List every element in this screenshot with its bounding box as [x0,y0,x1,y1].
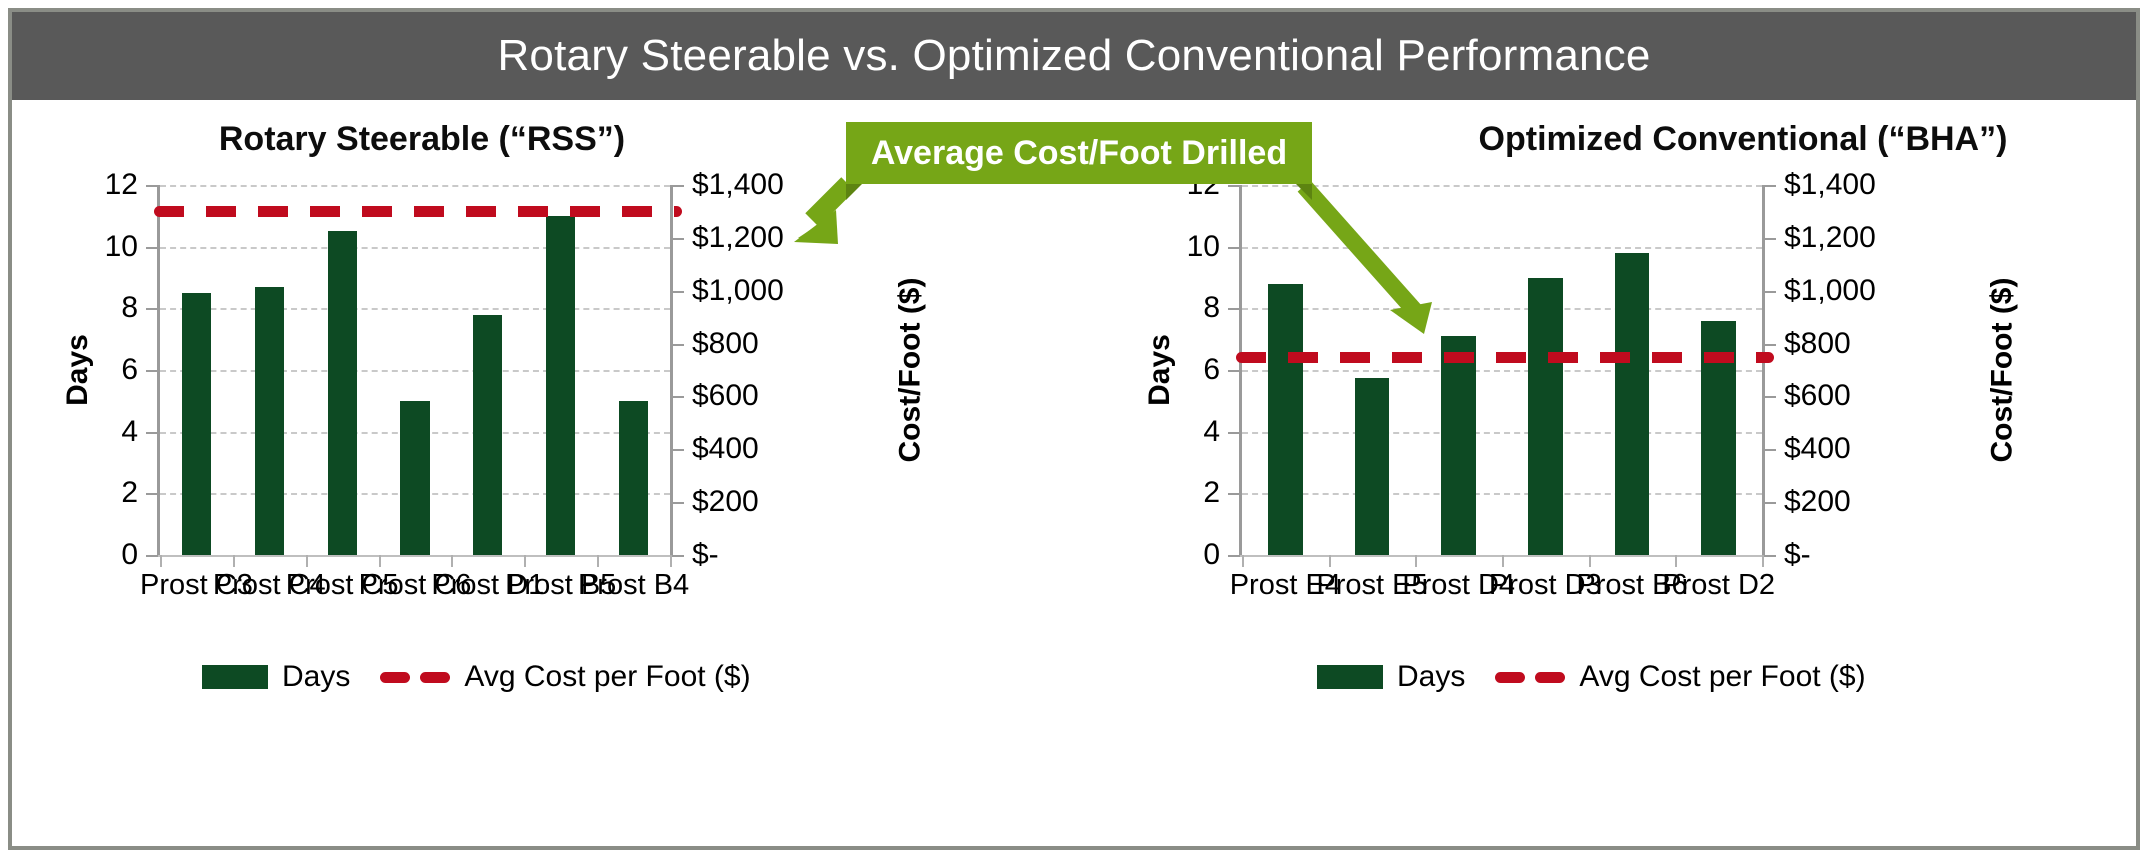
chart-panel-rss: Rotary Steerable (“RSS”) 121086420$1,400… [12,100,1072,854]
bar[interactable] [546,216,575,555]
y-tick-left [146,493,158,495]
x-axis-category-label: Prost D2 [1662,569,1775,602]
chart-title-rss: Rotary Steerable (“RSS”) [0,120,952,159]
bar[interactable] [328,231,357,555]
y-axis-left-tick-label: 8 [1203,291,1220,325]
bar[interactable] [1268,284,1303,555]
legend-label-days: Days [282,660,350,694]
bar[interactable] [473,315,502,556]
bar[interactable] [619,401,648,555]
y-tick-left [1228,308,1240,310]
legend-item-days: Days [1317,660,1465,694]
y-axis-right-tick-label: $1,000 [692,274,784,308]
dashed-line-swatch-icon [380,672,450,683]
y-axis-right-tick-label: $400 [1784,432,1851,466]
y-axis-right-tick-label: $- [1784,538,1811,572]
y-axis-left-tick-label: 4 [1203,415,1220,449]
y-axis-left-tick-label: 10 [1187,230,1220,264]
y-tick-right [672,291,684,293]
gridline [1242,432,1762,434]
y-axis-right-tick-label: $800 [692,327,759,361]
y-tick-right [672,396,684,398]
x-tick [160,555,162,567]
x-tick [306,555,308,567]
x-tick [597,555,599,567]
y-tick-right [672,344,684,346]
avg-cost-per-foot-line [1236,352,1774,363]
y-tick-left [146,185,158,187]
y-axis-right-tick-label: $600 [1784,379,1851,413]
gridline [1242,185,1762,187]
gridline [1242,370,1762,372]
x-tick [233,555,235,567]
legend-item-avg-cost: Avg Cost per Foot ($) [380,660,750,694]
gridline [160,185,670,187]
x-tick [1329,555,1331,567]
y-tick-left [1228,247,1240,249]
x-axis-category-label: Prost B4 [578,569,689,602]
y-tick-right [1764,344,1776,346]
y-axis-right-tick-label: $- [692,538,719,572]
x-tick [379,555,381,567]
gridline [160,370,670,372]
header-bar: Rotary Steerable vs. Optimized Conventio… [12,12,2136,100]
x-tick [1675,555,1677,567]
legend-label-avg-cost: Avg Cost per Foot ($) [464,660,750,694]
y-axis-right-title: Cost/Foot ($) [1985,278,2019,463]
callout-fold-right-icon [1296,184,1312,200]
y-tick-left [1228,185,1240,187]
y-axis-left-title: Days [61,334,95,406]
y-tick-left [1228,370,1240,372]
y-axis-right-tick-label: $1,200 [692,221,784,255]
y-axis-right-tick-label: $1,400 [1784,168,1876,202]
y-tick-left [146,247,158,249]
bar[interactable] [182,293,211,555]
y-axis-right-tick-label: $200 [1784,485,1851,519]
x-tick [524,555,526,567]
bar[interactable] [255,287,284,555]
y-axis-left-tick-label: 2 [121,476,138,510]
y-tick-left [146,432,158,434]
x-tick [1415,555,1417,567]
y-axis-right-tick-label: $400 [692,432,759,466]
y-tick-left [146,308,158,310]
y-tick-right [1764,396,1776,398]
page-title: Rotary Steerable vs. Optimized Conventio… [12,12,2136,100]
callout-label: Average Cost/Foot Drilled [846,122,1312,184]
y-axis-left-title: Days [1143,334,1177,406]
bar-swatch-icon [1317,665,1383,689]
y-tick-left [1228,555,1240,557]
y-tick-right [1764,502,1776,504]
gridline [1242,308,1762,310]
x-tick [1242,555,1244,567]
y-tick-right [672,502,684,504]
legend-label-avg-cost: Avg Cost per Foot ($) [1579,660,1865,694]
y-axis-right-tick-label: $600 [692,379,759,413]
bar[interactable] [1355,378,1390,555]
y-tick-right [672,185,684,187]
y-tick-right [1764,238,1776,240]
plot-area-bha: 121086420$1,400$1,200$1,000$800$600$400$… [1242,185,1762,555]
plot-area-rss: 121086420$1,400$1,200$1,000$800$600$400$… [160,185,670,555]
legend-bha: Days Avg Cost per Foot ($) [1317,660,1866,694]
y-tick-left [146,370,158,372]
y-axis-left-tick-label: 0 [1203,538,1220,572]
y-axis-right-tick-label: $1,000 [1784,274,1876,308]
y-tick-left [1228,493,1240,495]
legend-label-days: Days [1397,660,1465,694]
y-axis-left-tick-label: 2 [1203,476,1220,510]
bar-swatch-icon [202,665,268,689]
x-tick [1589,555,1591,567]
y-axis-right-tick-label: $200 [692,485,759,519]
chart-title-bha: Optimized Conventional (“BHA”) [1222,120,2152,159]
y-axis-left-tick-label: 12 [105,168,138,202]
gridline [1242,247,1762,249]
y-axis-left-tick-label: 10 [105,230,138,264]
bar[interactable] [400,401,429,555]
bar[interactable] [1528,278,1563,556]
gridline [1242,493,1762,495]
chart-panel-bha: Optimized Conventional (“BHA”) 121086420… [1102,100,2144,854]
x-tick [1762,555,1764,567]
y-tick-left [146,555,158,557]
y-tick-left [1228,432,1240,434]
y-axis-left-tick-label: 6 [1203,353,1220,387]
y-tick-right [1764,185,1776,187]
gridline [160,308,670,310]
y-axis-left-tick-label: 0 [121,538,138,572]
slide: Rotary Steerable vs. Optimized Conventio… [8,8,2140,850]
y-tick-right [1764,291,1776,293]
y-tick-right [1764,449,1776,451]
y-tick-right [1764,555,1776,557]
y-axis-left-tick-label: 8 [121,291,138,325]
callout-fold-left-icon [846,184,862,200]
y-axis-right-tick-label: $1,200 [1784,221,1876,255]
y-axis-left-tick-label: 4 [121,415,138,449]
y-axis-right-title: Cost/Foot ($) [893,278,927,463]
bar[interactable] [1441,336,1476,555]
avg-cost-per-foot-line [154,206,682,217]
legend-item-avg-cost: Avg Cost per Foot ($) [1495,660,1865,694]
x-tick [670,555,672,567]
y-axis-left-tick-label: 6 [121,353,138,387]
bar[interactable] [1615,253,1650,555]
legend-item-days: Days [202,660,350,694]
y-axis-right-bha [1762,185,1765,555]
legend-rss: Days Avg Cost per Foot ($) [202,660,751,694]
gridline [160,247,670,249]
y-tick-right [672,449,684,451]
dashed-line-swatch-icon [1495,672,1565,683]
callout-banner: Average Cost/Foot Drilled [846,122,1312,184]
x-tick [1502,555,1504,567]
x-tick [451,555,453,567]
y-tick-right [672,555,684,557]
y-axis-right-tick-label: $800 [1784,327,1851,361]
y-axis-right-tick-label: $1,400 [692,168,784,202]
y-tick-right [672,238,684,240]
y-axis-right-rss [670,185,673,555]
